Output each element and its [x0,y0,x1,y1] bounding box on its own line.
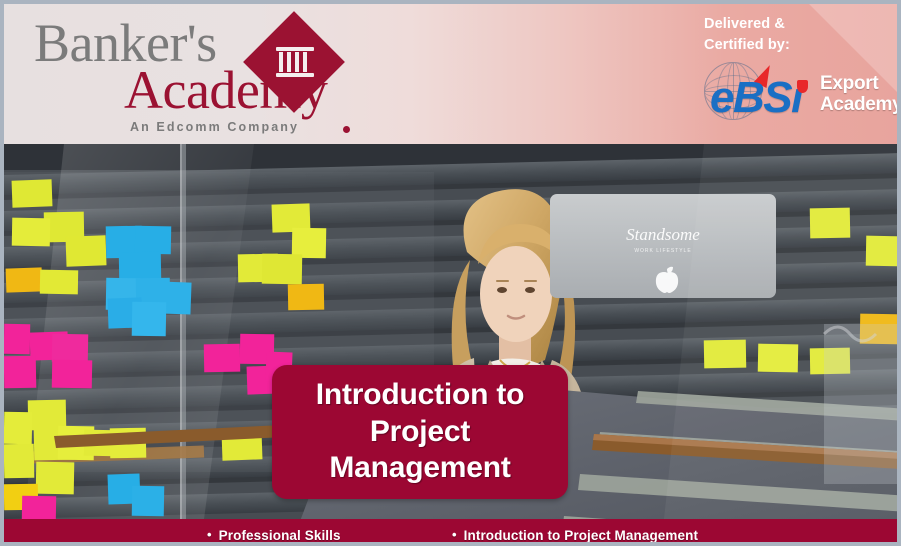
course-title-slide: Banker's Academy An Edcomm Company Deliv… [0,0,901,546]
course-title: Introduction to Project Management [272,377,568,487]
bankers-academy-logo: Banker's Academy An Edcomm Company [30,12,410,136]
brand-tagline-dot [343,126,350,133]
column-3 [295,52,299,72]
breadcrumb-label-2: Introduction to Project Management [464,528,698,543]
bullet-icon: • [207,527,212,542]
column-base [276,73,314,77]
ebsi-wordmark: eBSi [710,76,802,120]
column-4 [303,52,307,72]
ebsi-i-dot-accent [797,80,808,93]
column-1 [279,52,283,72]
svg-text:WORK LIFESTYLE: WORK LIFESTYLE [634,248,691,254]
brand-tagline: An Edcomm Company [130,120,299,134]
breadcrumb-bar: •Professional Skills •Introduction to Pr… [4,519,901,546]
column-2 [287,52,291,72]
breadcrumb-item-intro-project-management[interactable]: •Introduction to Project Management [452,527,698,543]
course-title-card: Introduction to Project Management [272,365,568,499]
delivered-line-2: Certified by: [704,35,884,56]
ebsi-export-academy-logo: eBSi Export Academy [702,62,900,134]
ebsi-subtitle: Export Academy [820,74,901,115]
bank-columns-glyph [276,47,314,77]
svg-text:Standsome: Standsome [626,225,700,244]
breadcrumb-item-professional-skills[interactable]: •Professional Skills [207,527,341,543]
delivered-certified-block: Delivered & Certified by: [704,14,884,56]
column-architrave [276,47,314,51]
slide-header: Banker's Academy An Edcomm Company Deliv… [4,4,901,144]
bullet-icon: • [452,527,457,542]
ebsi-subtitle-line-1: Export [820,74,901,95]
ebsi-subtitle-line-2: Academy [820,95,901,116]
breadcrumb-label-1: Professional Skills [219,528,341,543]
delivered-line-1: Delivered & [704,14,884,35]
